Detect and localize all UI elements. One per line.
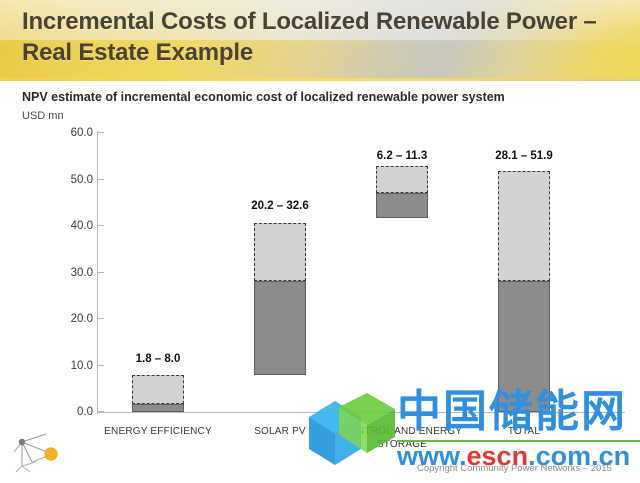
y-axis-tick: 20.0 bbox=[30, 312, 104, 326]
bar-segment-range bbox=[376, 166, 428, 193]
y-axis-tick-label: 0.0 bbox=[77, 405, 93, 419]
bar-segment-solid bbox=[498, 281, 550, 412]
y-axis-tick-label: 40.0 bbox=[71, 219, 93, 233]
y-axis-tick-label: 20.0 bbox=[71, 312, 93, 326]
copyright-note: Copyright Community Power Networks – 201… bbox=[417, 463, 612, 474]
bar-segment-range bbox=[498, 171, 550, 282]
company-logo-icon bbox=[10, 432, 100, 478]
y-axis-tick-mark bbox=[97, 225, 104, 226]
bar-value-label: 28.1 – 51.9 bbox=[444, 150, 604, 162]
y-axis-tick-label: 30.0 bbox=[71, 266, 93, 280]
y-axis-tick: 30.0 bbox=[30, 266, 104, 280]
y-axis-tick-label: 60.0 bbox=[71, 126, 93, 140]
bar-segment-range bbox=[254, 223, 306, 281]
y-axis-tick-mark bbox=[97, 179, 104, 180]
y-axis-tick-mark bbox=[97, 411, 104, 412]
x-axis-category-label: TOTAL bbox=[449, 425, 599, 438]
bar-segment-solid bbox=[376, 193, 428, 218]
bar-chart: 60.0 50.0 40.0 30.0 20.0 10.0 0.0 1.8 – … bbox=[0, 0, 640, 480]
y-axis-tick: 50.0 bbox=[30, 173, 104, 187]
bar-segment-solid bbox=[132, 404, 184, 413]
y-axis-tick-mark bbox=[97, 132, 104, 133]
y-axis-tick: 60.0 bbox=[30, 126, 104, 140]
bar-segment-range bbox=[132, 375, 184, 404]
y-axis-tick-label: 50.0 bbox=[71, 173, 93, 187]
y-axis-tick: 40.0 bbox=[30, 219, 104, 233]
y-axis-tick: 0.0 bbox=[30, 405, 104, 419]
bar-value-label: 20.2 – 32.6 bbox=[200, 200, 360, 212]
y-axis-tick-mark bbox=[97, 272, 104, 273]
bar-value-label: 1.8 – 8.0 bbox=[78, 353, 238, 365]
y-axis-tick-mark bbox=[97, 318, 104, 319]
bar-segment-solid bbox=[254, 281, 306, 375]
